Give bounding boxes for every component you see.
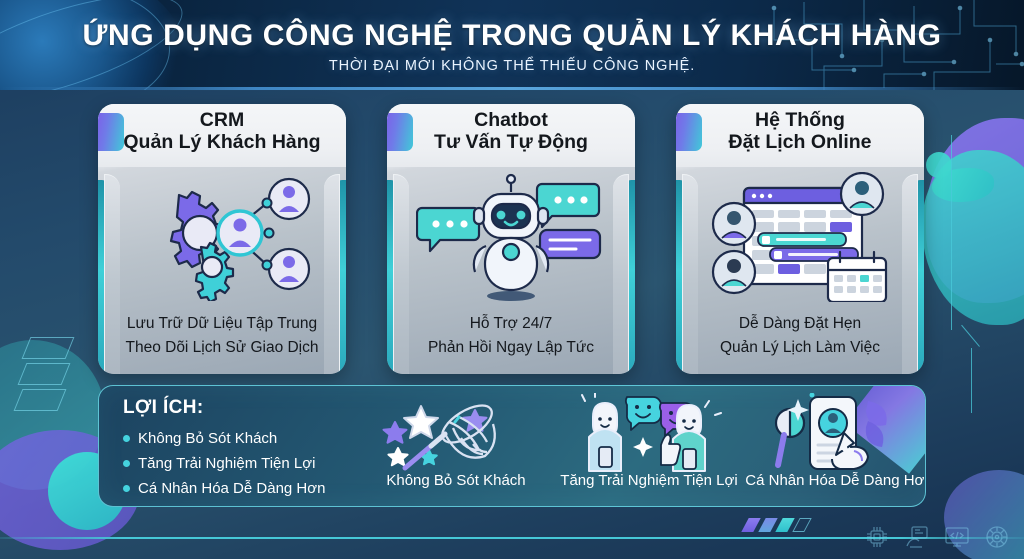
booking-calendar-users-icon — [702, 172, 898, 302]
card-crm-header: CRM Quản Lý Khách Hàng — [98, 104, 346, 167]
bullet-icon — [123, 485, 130, 492]
benefit-illustration-caption: Cá Nhân Hóa Dễ Dàng Hơn — [744, 472, 926, 489]
card-booking-title-line1: Hệ Thống — [676, 110, 924, 132]
card-booking-footer-line2: Quản Lý Lịch Làm Việc — [676, 336, 924, 360]
card-booking-footer: Dễ Dàng Đặt Hẹn Quản Lý Lịch Làm Việc — [676, 312, 924, 360]
footer-tech-icons — [864, 524, 1010, 550]
microchip-icon — [864, 524, 890, 550]
card-booking-footer-line1: Dễ Dàng Đặt Hẹn — [676, 312, 924, 336]
benefits-title: LỢI ÍCH: — [123, 397, 204, 419]
card-crm-title-line1: CRM — [98, 110, 346, 132]
card-crm-title-line2: Quản Lý Khách Hàng — [98, 132, 346, 154]
card-chatbot-footer-line1: Hỗ Trợ 24/7 — [387, 312, 635, 336]
card-booking-title-line2: Đặt Lịch Online — [676, 132, 924, 154]
decor-circuit-trace-right-lower — [971, 348, 972, 413]
slash-mark — [775, 518, 794, 532]
page-subtitle: THỜI ĐẠI MỚI KHÔNG THỂ THIẾU CÔNG NGHỆ. — [0, 58, 1024, 74]
list-item: Tăng Trải Nghiệm Tiện Lợi — [123, 451, 325, 476]
list-item: Cá Nhân Hóa Dễ Dàng Hơn — [123, 476, 325, 501]
robot-chat-bubbles-icon — [416, 172, 606, 302]
decor-parallelogram-1 — [22, 337, 75, 359]
header-banner: ỨNG DỤNG CÔNG NGHỆ TRONG QUẢN LÝ KHÁCH H… — [0, 0, 1024, 90]
decor-circuit-trace-right-diag — [961, 325, 980, 347]
card-booking-header: Hệ Thống Đặt Lịch Online — [676, 104, 924, 167]
card-chatbot-title-line1: Chatbot — [387, 110, 635, 132]
footer-slash-marks — [745, 518, 823, 532]
card-crm[interactable]: CRM Quản Lý Khách Hàng — [98, 104, 346, 374]
decor-parallelogram-3 — [14, 389, 67, 411]
card-crm-footer-line2: Theo Dõi Lịch Sử Giao Dịch — [98, 336, 346, 360]
card-chatbot-footer-line2: Phản Hồi Ngay Lập Tức — [387, 336, 635, 360]
card-accent-tab — [98, 113, 124, 151]
benefit-illustration-net: Không Bỏ Sót Khách — [361, 394, 551, 500]
benefit-illustration-people: Tăng Trải Nghiệm Tiện Lợi — [554, 394, 744, 500]
card-crm-footer-line1: Lưu Trữ Dữ Liệu Tập Trung — [98, 312, 346, 336]
infographic-canvas: ỨNG DỤNG CÔNG NGHỆ TRONG QUẢN LÝ KHÁCH H… — [0, 0, 1024, 559]
phone-profile-magnifier-icon — [764, 393, 914, 473]
benefit-illustration-caption: Không Bỏ Sót Khách — [361, 472, 551, 489]
card-crm-illustration — [98, 168, 346, 306]
benefit-illustration-profile: Cá Nhân Hóa Dễ Dàng Hơn — [744, 394, 926, 500]
card-accent-tab — [676, 113, 702, 151]
bullet-icon — [123, 460, 130, 467]
decor-circuit-trace-right — [951, 135, 952, 330]
header-divider — [0, 87, 1024, 90]
benefits-panel: LỢI ÍCH: Không Bỏ Sót Khách Tăng Trải Ng… — [98, 385, 926, 507]
card-chatbot-illustration — [387, 168, 635, 306]
benefit-label: Cá Nhân Hóa Dễ Dàng Hơn — [138, 480, 325, 497]
card-accent-tab — [387, 113, 413, 151]
code-monitor-icon — [944, 524, 970, 550]
benefit-label: Không Bỏ Sót Khách — [138, 430, 277, 447]
benefit-illustration-caption: Tăng Trải Nghiệm Tiện Lợi — [554, 472, 744, 489]
card-chatbot-footer: Hỗ Trợ 24/7 Phản Hồi Ngay Lập Tức — [387, 312, 635, 360]
card-chatbot[interactable]: Chatbot Tư Vấn Tự Động — [387, 104, 635, 374]
slash-mark-outline — [792, 518, 811, 532]
gears-users-network-icon — [127, 173, 317, 301]
slash-mark — [741, 518, 760, 532]
card-crm-footer: Lưu Trữ Dữ Liệu Tập Trung Theo Dõi Lịch … — [98, 312, 346, 360]
benefits-list: Không Bỏ Sót Khách Tăng Trải Nghiệm Tiện… — [123, 426, 325, 501]
bullet-icon — [123, 435, 130, 442]
two-people-phones-smiley-icon — [569, 393, 729, 473]
page-title: ỨNG DỤNG CÔNG NGHỆ TRONG QUẢN LÝ KHÁCH H… — [0, 19, 1024, 53]
butterfly-net-stars-icon — [381, 394, 531, 472]
hand-screen-icon — [904, 524, 930, 550]
card-chatbot-header: Chatbot Tư Vấn Tự Động — [387, 104, 635, 167]
list-item: Không Bỏ Sót Khách — [123, 426, 325, 451]
card-booking-illustration — [676, 168, 924, 306]
slash-mark — [758, 518, 777, 532]
feature-cards-row: CRM Quản Lý Khách Hàng — [98, 104, 926, 374]
decor-parallelogram-2 — [18, 363, 71, 385]
benefit-label: Tăng Trải Nghiệm Tiện Lợi — [138, 455, 315, 472]
target-compass-icon — [984, 524, 1010, 550]
card-chatbot-title-line2: Tư Vấn Tự Động — [387, 132, 635, 154]
card-booking[interactable]: Hệ Thống Đặt Lịch Online — [676, 104, 924, 374]
